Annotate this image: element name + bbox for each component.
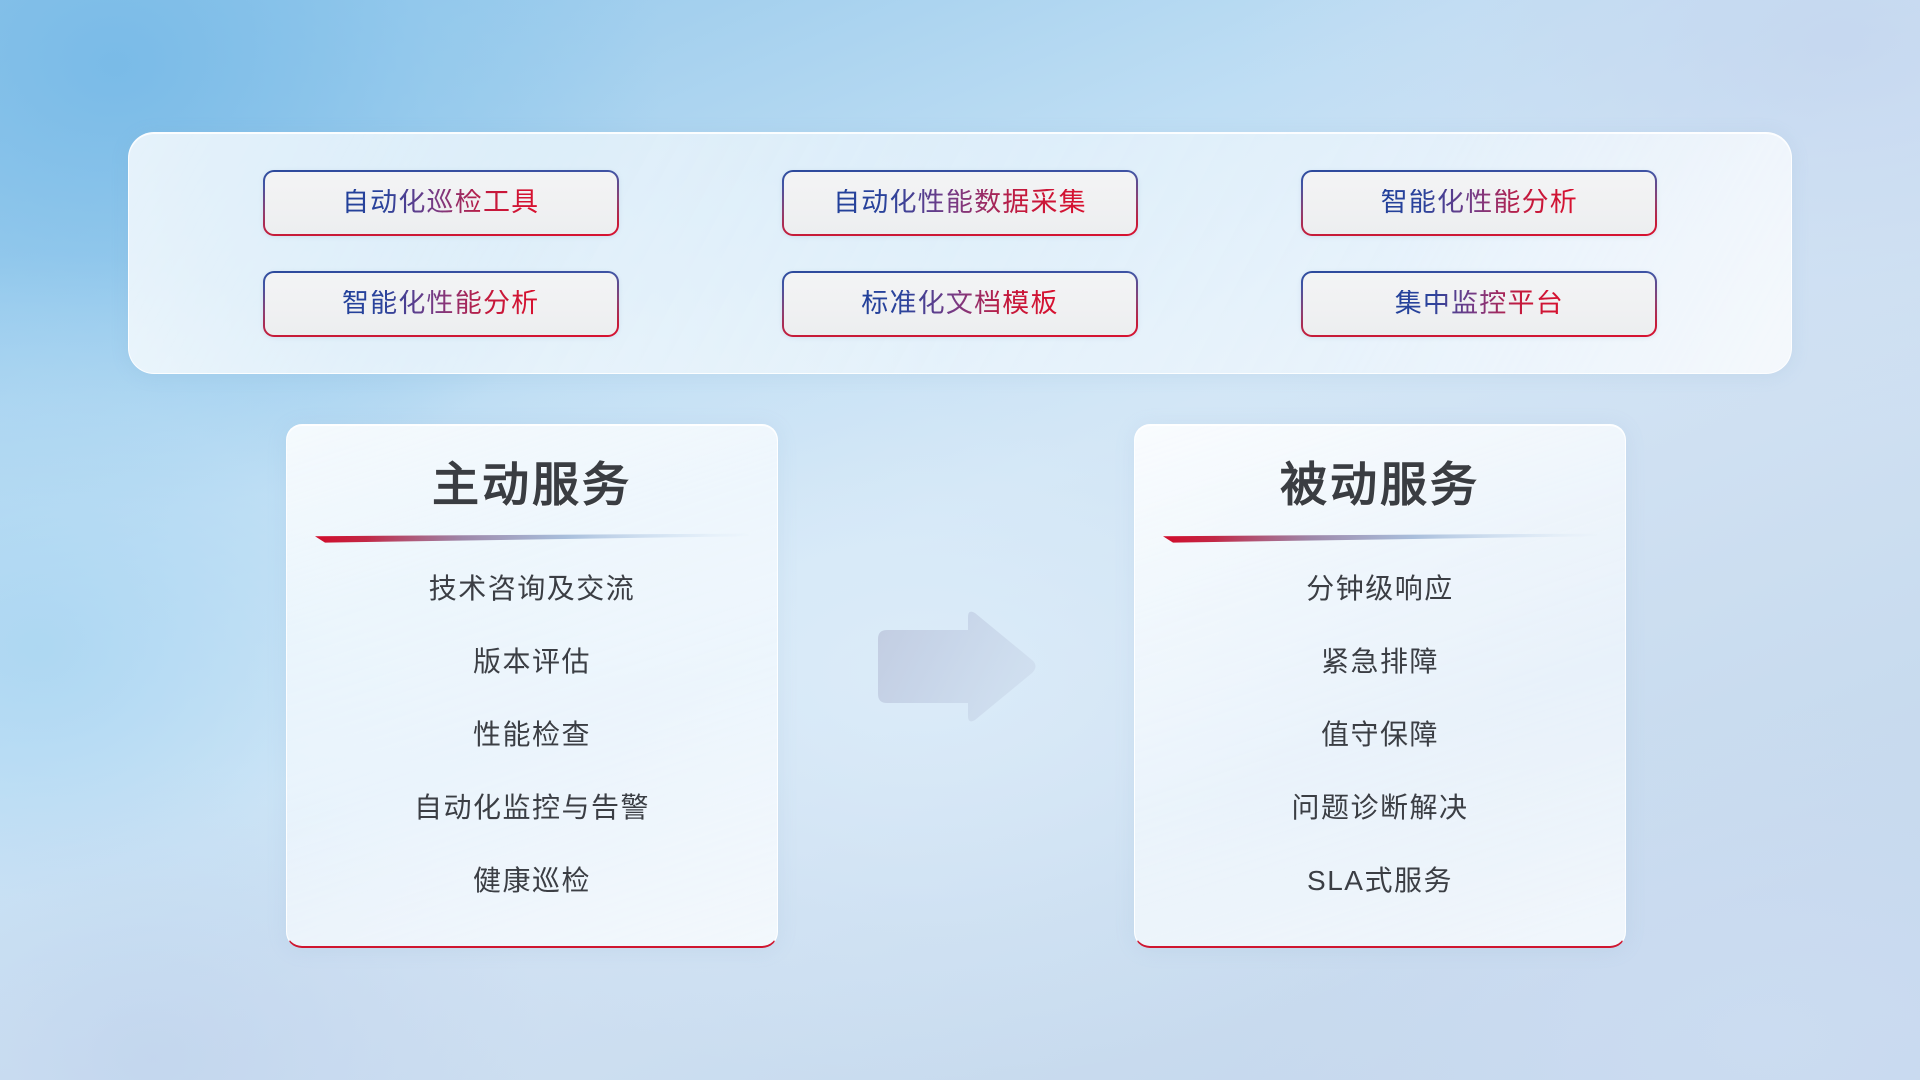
list-item: 分钟级响应: [1135, 575, 1625, 603]
capability-chip-1-surface: 自动化巡检工具: [265, 172, 617, 234]
service-card-proactive-title: 主动服务: [287, 425, 777, 511]
list-item: 健康巡检: [287, 867, 777, 895]
list-item: 版本评估: [287, 648, 777, 676]
list-item: SLA式服务: [1135, 867, 1625, 895]
list-item: 技术咨询及交流: [287, 575, 777, 603]
service-card-reactive[interactable]: 被动服务 分钟级响应 紧急排障 值守保障: [1134, 424, 1626, 948]
capability-chip-1-label: 自动化巡检工具: [342, 189, 539, 216]
capability-chip-6-surface: 集中监控平台: [1303, 273, 1655, 335]
capability-chip-2[interactable]: 自动化性能数据采集: [782, 170, 1138, 236]
service-card-proactive[interactable]: 主动服务 技术咨询及交流 版本评估 性能检查: [286, 424, 778, 948]
service-card-proactive-divider: [315, 533, 749, 545]
capability-chip-3[interactable]: 智能化性能分析: [1301, 170, 1657, 236]
service-card-reactive-list: 分钟级响应 紧急排障 值守保障 问题诊断解决 SLA式服务: [1135, 545, 1625, 895]
list-item: 值守保障: [1135, 721, 1625, 749]
list-item: 性能检查: [287, 721, 777, 749]
capability-chip-6[interactable]: 集中监控平台: [1301, 271, 1657, 337]
capability-chip-6-label: 集中监控平台: [1395, 290, 1564, 317]
slide-canvas: 自动化巡检工具 自动化性能数据采集 智能化性能分析 智能化性能分析: [0, 0, 1920, 1080]
capability-chip-4-surface: 智能化性能分析: [265, 273, 617, 335]
list-item: 紧急排障: [1135, 648, 1625, 676]
capability-chip-3-label: 智能化性能分析: [1381, 189, 1578, 216]
capability-chip-1[interactable]: 自动化巡检工具: [263, 170, 619, 236]
capability-chip-4[interactable]: 智能化性能分析: [263, 271, 619, 337]
capability-chip-2-label: 自动化性能数据采集: [833, 189, 1087, 216]
capability-chip-5[interactable]: 标准化文档模板: [782, 271, 1138, 337]
capability-chip-5-surface: 标准化文档模板: [784, 273, 1136, 335]
capability-chips-panel: 自动化巡检工具 自动化性能数据采集 智能化性能分析 智能化性能分析: [128, 132, 1792, 374]
service-card-reactive-title: 被动服务: [1135, 425, 1625, 511]
capability-chip-3-surface: 智能化性能分析: [1303, 172, 1655, 234]
capability-chips-grid: 自动化巡检工具 自动化性能数据采集 智能化性能分析 智能化性能分析: [129, 133, 1791, 373]
service-card-proactive-list: 技术咨询及交流 版本评估 性能检查 自动化监控与告警 健康巡检: [287, 545, 777, 895]
right-arrow-icon: [872, 608, 1038, 726]
capability-chip-4-label: 智能化性能分析: [342, 290, 539, 317]
list-item: 问题诊断解决: [1135, 794, 1625, 822]
service-card-reactive-divider: [1163, 533, 1597, 545]
list-item: 自动化监控与告警: [287, 794, 777, 822]
capability-chip-5-label: 标准化文档模板: [861, 290, 1058, 317]
capability-chip-2-surface: 自动化性能数据采集: [784, 172, 1136, 234]
